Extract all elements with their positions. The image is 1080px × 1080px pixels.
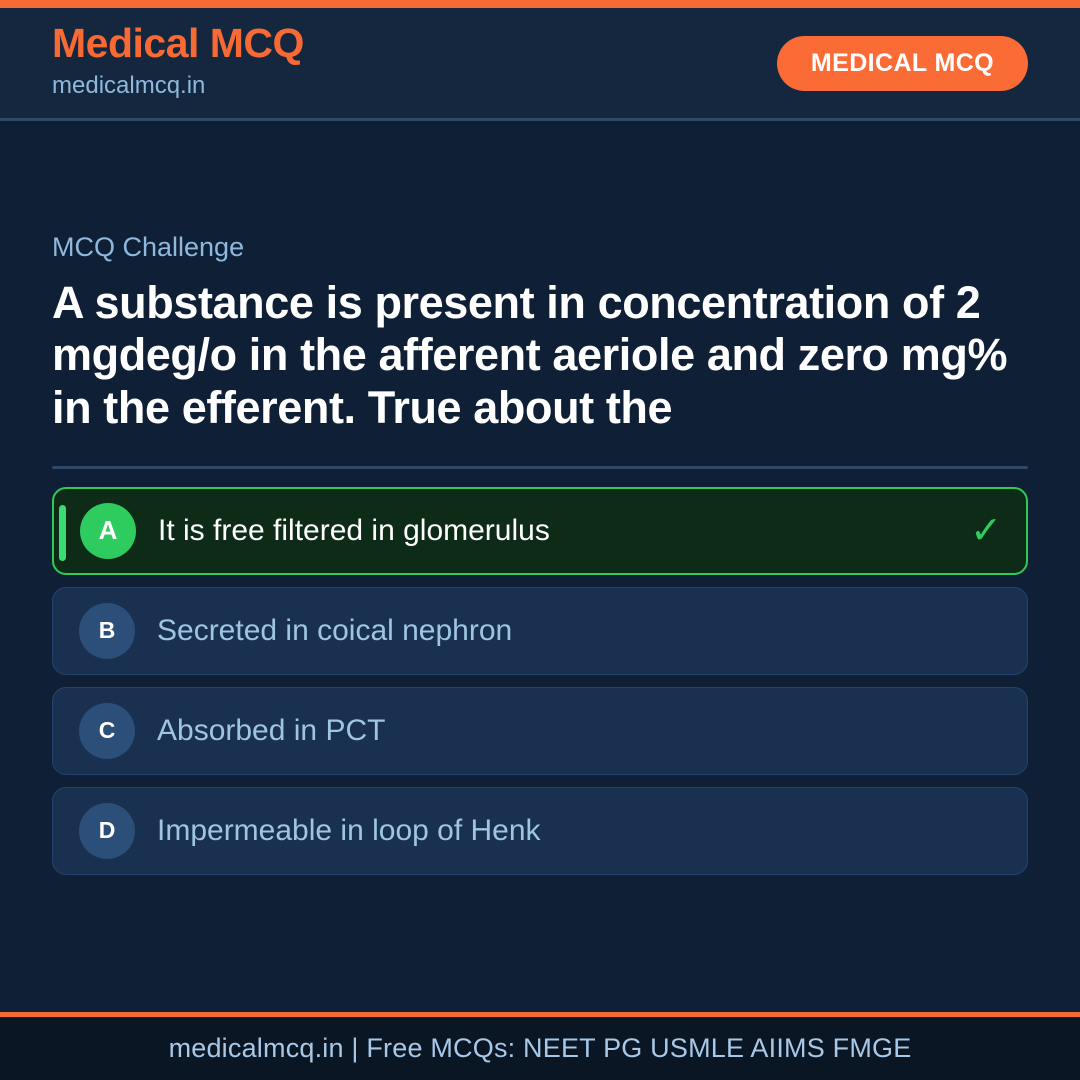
option-label: Absorbed in PCT [157, 713, 955, 749]
footer: medicalmcq.in | Free MCQs: NEET PG USMLE… [0, 1017, 1080, 1080]
option-c[interactable]: C Absorbed in PCT ✓ [52, 687, 1028, 775]
check-icon: ✓ [970, 512, 1002, 550]
option-a[interactable]: A It is free filtered in glomerulus ✓ [52, 487, 1028, 575]
options-list: A It is free filtered in glomerulus ✓ B … [52, 487, 1028, 875]
option-d[interactable]: D Impermeable in loop of Henk ✓ [52, 787, 1028, 875]
brand-block: Medical MCQ medicalmcq.in [52, 22, 304, 103]
correct-accent-bar [59, 505, 66, 561]
main-content: MCQ Challenge A substance is present in … [0, 121, 1080, 1012]
option-letter-badge: D [79, 803, 135, 859]
mcq-card: Medical MCQ medicalmcq.in MEDICAL MCQ MC… [0, 0, 1080, 1080]
option-b[interactable]: B Secreted in coical nephron ✓ [52, 587, 1028, 675]
option-letter-badge: B [79, 603, 135, 659]
question-divider [52, 466, 1028, 469]
brand-title: Medical MCQ [52, 22, 304, 65]
brand-subtitle: medicalmcq.in [52, 68, 304, 104]
option-letter-badge: C [79, 703, 135, 759]
option-letter-badge: A [80, 503, 136, 559]
option-label: Impermeable in loop of Henk [157, 813, 955, 849]
option-label: It is free filtered in glomerulus [158, 513, 954, 549]
header: Medical MCQ medicalmcq.in MEDICAL MCQ [0, 8, 1080, 121]
footer-wrapper: medicalmcq.in | Free MCQs: NEET PG USMLE… [0, 1012, 1080, 1080]
brand-badge: MEDICAL MCQ [777, 36, 1028, 91]
question-text: A substance is present in concentration … [52, 277, 1028, 435]
footer-text: medicalmcq.in | Free MCQs: NEET PG USMLE… [169, 1033, 912, 1064]
top-accent-bar [0, 0, 1080, 8]
option-label: Secreted in coical nephron [157, 613, 955, 649]
eyebrow-label: MCQ Challenge [52, 233, 1028, 263]
